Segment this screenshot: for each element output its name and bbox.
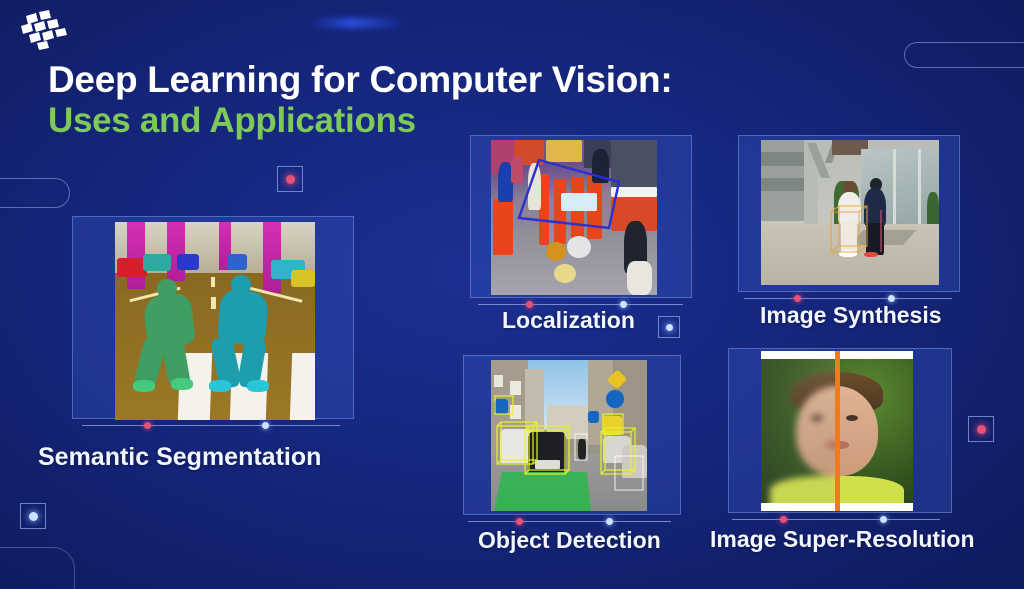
super-resolution-split-line — [835, 351, 840, 511]
synthesis-wireframe-box — [761, 140, 939, 285]
marker-dot — [286, 175, 295, 184]
rail-dot-pink — [780, 516, 787, 523]
rail-dot-pink — [516, 518, 523, 525]
marker-dot — [666, 324, 673, 331]
pill-top-right — [904, 42, 1024, 68]
caption-object-detection: Object Detection — [478, 527, 661, 554]
panel-semantic-segmentation[interactable]: Semantic Segmentation — [72, 216, 354, 419]
pill-left — [0, 178, 70, 208]
caption-localization: Localization — [502, 307, 635, 334]
image-synthesis-image — [761, 140, 939, 285]
object-detection-boxes — [491, 360, 647, 511]
rail-dot-blue — [262, 422, 269, 429]
marker-localization — [658, 316, 680, 338]
pill-bottom-left — [0, 547, 75, 589]
panel-frame — [463, 355, 681, 515]
image-super-resolution-image — [761, 351, 913, 511]
checkered-mosaic-logo — [12, 8, 70, 52]
semantic-segmentation-image — [115, 222, 315, 420]
panel-image-synthesis[interactable]: Image Synthesis — [738, 135, 960, 292]
title-block: Deep Learning for Computer Vision: Uses … — [48, 60, 672, 141]
rail-dot-blue — [606, 518, 613, 525]
caption-image-synthesis: Image Synthesis — [760, 302, 942, 329]
panel-rail — [732, 519, 940, 520]
panel-frame — [470, 135, 692, 298]
marker-bottom-left — [20, 503, 46, 529]
panel-frame — [72, 216, 354, 419]
marker-right — [968, 416, 994, 442]
marker-dot — [29, 512, 38, 521]
localization-image — [491, 140, 657, 295]
object-detection-image — [491, 360, 647, 511]
page-title-line1: Deep Learning for Computer Vision: — [48, 60, 672, 100]
panel-rail — [744, 298, 952, 299]
panel-localization[interactable]: Localization — [470, 135, 692, 298]
marker-dot — [977, 425, 986, 434]
localization-bounding-quad — [491, 140, 657, 295]
caption-semantic-segmentation: Semantic Segmentation — [38, 443, 321, 472]
panel-rail — [478, 304, 683, 305]
rail-dot-pink — [794, 295, 801, 302]
rail-dot-pink — [144, 422, 151, 429]
rail-dot-blue — [888, 295, 895, 302]
panel-frame — [738, 135, 960, 292]
slide-canvas: Deep Learning for Computer Vision: Uses … — [0, 0, 1024, 589]
panel-frame — [728, 348, 952, 513]
marker-title — [277, 166, 303, 192]
top-glow-bar — [310, 18, 400, 28]
rail-dot-blue — [880, 516, 887, 523]
panel-rail — [82, 425, 340, 426]
panel-image-super-resolution[interactable]: Image Super-Resolution — [728, 348, 952, 513]
panel-object-detection[interactable]: Object Detection — [463, 355, 681, 515]
caption-image-super-resolution: Image Super-Resolution — [710, 526, 975, 553]
panel-rail — [468, 521, 671, 522]
